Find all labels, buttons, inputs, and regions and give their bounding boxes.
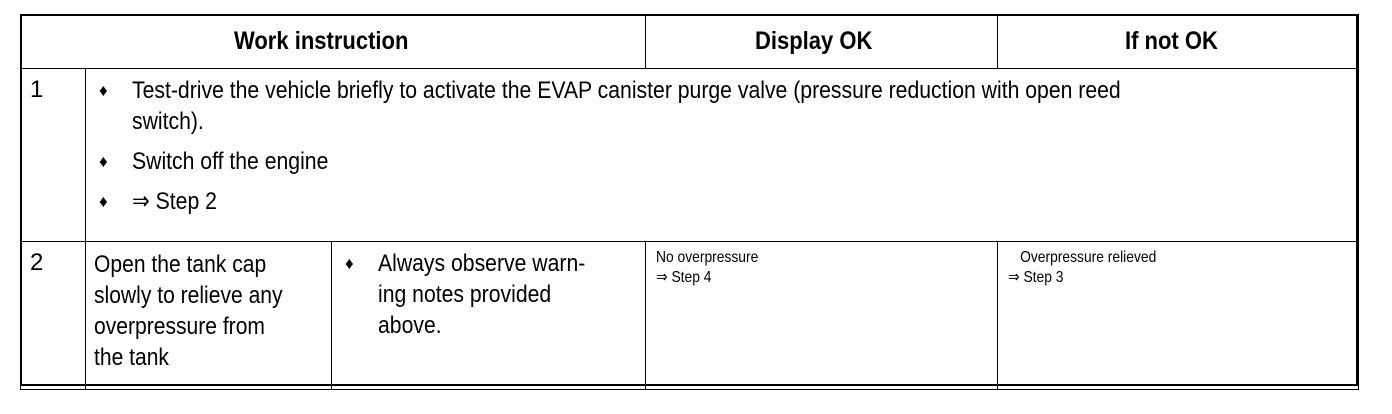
- list-item-label: Switch off the engine: [132, 146, 1187, 177]
- work-instruction-sheet: Work instruction Display OK If not OK 1: [0, 0, 1392, 414]
- diamond-bullet-icon: ♦: [99, 186, 108, 217]
- row2-note-cell: ♦ Always observe warn- ing notes provide…: [332, 242, 646, 390]
- action-text-wrapper: Open the tank cap slowly to relieve any …: [86, 242, 331, 381]
- row2-if-not-ok-cell: Overpressure relieved ⇒ Step 3: [998, 242, 1359, 390]
- if-not-ok-line1: Overpressure relieved: [1008, 249, 1156, 267]
- table-header-row: Work instruction Display OK If not OK: [21, 15, 1359, 69]
- if-not-ok-wrapper: Overpressure relieved ⇒ Step 3: [998, 242, 1358, 295]
- column-header-work-instruction: Work instruction: [21, 15, 646, 69]
- row2-action-cell: Open the tank cap slowly to relieve any …: [86, 242, 332, 390]
- if-not-ok-line2: ⇒ Step 3: [1008, 267, 1304, 287]
- list-item: ♦ Always observe warn- ing notes provide…: [345, 248, 639, 341]
- list-item: ♦ ⇒ Step 2: [99, 186, 1352, 217]
- row-number-cell: 1: [21, 69, 86, 242]
- list-item-label: Always observe warn- ing notes provided …: [378, 248, 604, 341]
- display-ok-wrapper: No overpressure ⇒ Step 4: [646, 242, 997, 295]
- list-item-label: ⇒ Step 2: [132, 186, 1187, 217]
- row-number: 1: [21, 69, 85, 102]
- table-row: 2 Open the tank cap slowly to relieve an…: [21, 242, 1359, 390]
- work-instruction-table: Work instruction Display OK If not OK 1: [20, 14, 1359, 390]
- column-header-display-ok: Display OK: [646, 15, 998, 69]
- diamond-bullet-icon: ♦: [345, 248, 354, 279]
- row-number: 2: [21, 242, 85, 275]
- table-row: 1 ♦ Test-drive the vehicle briefly to ac…: [21, 69, 1359, 242]
- column-header-if-not-ok: If not OK: [998, 15, 1359, 69]
- display-ok-line1: No overpressure: [656, 249, 944, 267]
- list-item-label: Test-drive the vehicle briefly to activa…: [132, 75, 1187, 137]
- diamond-bullet-icon: ♦: [99, 146, 108, 177]
- row2-display-ok-cell: No overpressure ⇒ Step 4: [646, 242, 998, 390]
- note-bullet-list: ♦ Always observe warn- ing notes provide…: [332, 242, 645, 347]
- diamond-bullet-icon: ♦: [99, 75, 108, 106]
- instruction-bullet-list: ♦ Test-drive the vehicle briefly to acti…: [86, 69, 1358, 223]
- list-item: ♦ Switch off the engine: [99, 146, 1352, 177]
- action-text: Open the tank cap slowly to relieve any …: [94, 249, 291, 373]
- list-item: ♦ Test-drive the vehicle briefly to acti…: [99, 75, 1352, 137]
- row1-instruction-cell: ♦ Test-drive the vehicle briefly to acti…: [86, 69, 1359, 242]
- display-ok-line2: ⇒ Step 4: [656, 267, 944, 287]
- row-number-cell: 2: [21, 242, 86, 390]
